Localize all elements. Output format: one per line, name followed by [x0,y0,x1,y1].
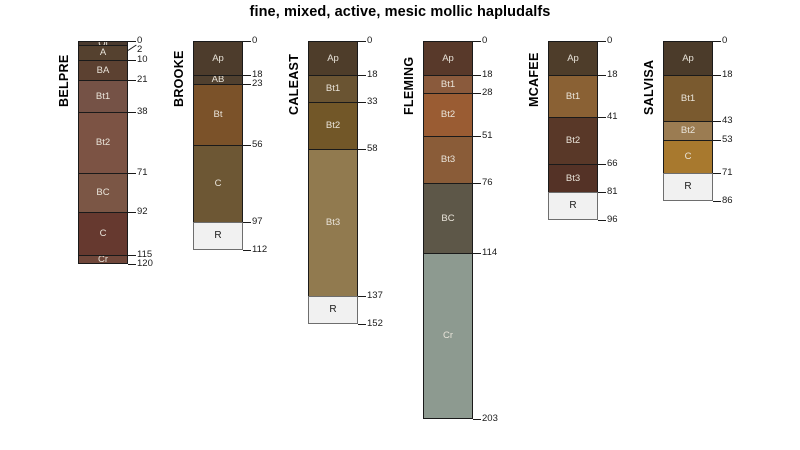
depth-value: 21 [137,75,148,85]
horizon-label: Bt2 [566,136,580,146]
profile-label-fleming: FLEMING [402,57,416,115]
horizon-label: Cr [98,255,108,264]
horizon-label: Bt2 [681,126,695,136]
profile-label-salvisa: SALVISA [642,60,656,115]
depth-tick [473,41,481,42]
depth-tick [473,419,481,420]
horizon-ab[interactable]: AB [193,75,243,84]
depth-value: 120 [137,259,153,269]
depth-tick [473,253,481,254]
horizon-r[interactable]: R [308,296,358,324]
depth-value: 71 [137,168,148,178]
horizon-label: AB [212,75,225,84]
depth-tick [128,80,136,81]
horizon-label: Bt3 [566,174,580,184]
depth-value: 43 [722,116,733,126]
horizon-bc[interactable]: BC [78,173,128,212]
depth-tick [473,75,481,76]
depth-value: 41 [607,112,618,122]
horizon-bt2[interactable]: Bt2 [423,93,473,136]
depth-value: 10 [137,55,148,65]
horizon-bt1[interactable]: Bt1 [308,75,358,103]
depth-value: 0 [367,36,372,46]
horizon-label: R [569,201,576,211]
depth-tick [358,324,366,325]
depth-tick [358,41,366,42]
horizon-bt2[interactable]: Bt2 [548,117,598,164]
horizon-label: C [215,179,222,189]
depth-value: 92 [137,207,148,217]
depth-value: 76 [482,178,493,188]
depth-tick [598,41,606,42]
depth-value: 66 [607,159,618,169]
depth-tick [128,112,136,113]
horizon-bt1[interactable]: Bt1 [548,75,598,118]
horizon-bt2[interactable]: Bt2 [78,112,128,173]
depth-value: 137 [367,291,383,301]
horizon-bt3[interactable]: Bt3 [548,164,598,192]
horizon-bt2[interactable]: Bt2 [308,102,358,149]
depth-tick [243,250,251,251]
horizon-label: Ap [682,54,694,64]
depth-value: 23 [252,79,263,89]
depth-value: 33 [367,97,378,107]
depth-tick [243,41,251,42]
depth-value: 58 [367,144,378,154]
depth-tick [473,93,481,94]
horizon-label: Ap [212,54,224,64]
horizon-label: R [214,231,221,241]
horizon-label: Bt1 [566,92,580,102]
depth-tick [358,75,366,76]
depth-value: 86 [722,196,733,206]
horizon-label: R [329,305,336,315]
depth-value: 81 [607,187,618,197]
horizon-ba[interactable]: BA [78,60,128,80]
depth-value: 18 [607,70,618,80]
profile-label-brooke: BROOKE [172,50,186,107]
horizon-label: Bt3 [326,218,340,228]
horizon-bt3[interactable]: Bt3 [308,149,358,296]
depth-tick [713,140,721,141]
depth-tick [128,212,136,213]
depth-tick [598,164,606,165]
horizon-label: BA [97,66,110,76]
horizon-ap[interactable]: Ap [663,41,713,75]
horizon-label: Bt [214,110,223,120]
depth-tick [598,117,606,118]
depth-tick [713,201,721,202]
depth-tick [243,84,251,85]
soil-profile-plot: fine, mixed, active, mesic mollic haplud… [0,0,800,450]
horizon-label: C [685,152,692,162]
horizon-label: Bt1 [441,80,455,90]
depth-value: 0 [722,36,727,46]
horizon-label: R [684,182,691,192]
horizon-r[interactable]: R [663,173,713,201]
horizon-label: Ap [327,54,339,64]
depth-value: 152 [367,319,383,329]
horizon-label: Ap [567,54,579,64]
horizon-label: Bt3 [441,155,455,165]
horizon-label: BC [441,214,454,224]
horizon-r[interactable]: R [548,192,598,220]
horizon-c[interactable]: C [663,140,713,174]
horizon-bt1[interactable]: Bt1 [78,80,128,112]
horizon-bt[interactable]: Bt [193,84,243,145]
depth-value: 203 [482,414,498,424]
depth-tick [128,255,136,256]
depth-tick [713,75,721,76]
horizon-label: Bt1 [326,84,340,94]
profile-label-mcafee: MCAFEE [527,52,541,107]
horizon-bt3[interactable]: Bt3 [423,136,473,183]
depth-value: 53 [722,135,733,145]
depth-tick [713,41,721,42]
depth-value: 0 [607,36,612,46]
horizon-label: Bt1 [681,94,695,104]
depth-tick [128,45,137,51]
horizon-label: Bt2 [326,121,340,131]
depth-value: 18 [722,70,733,80]
depth-value: 71 [722,168,733,178]
horizon-cr[interactable]: Cr [423,253,473,419]
horizon-label: BC [96,188,109,198]
horizon-label: Bt1 [96,92,110,102]
depth-value: 112 [252,245,267,255]
horizon-label: C [100,229,107,239]
depth-tick [713,173,721,174]
depth-tick [243,145,251,146]
horizon-cr[interactable]: Cr [78,255,128,264]
horizon-ap[interactable]: Ap [423,41,473,75]
horizon-label: Bt2 [96,138,110,148]
horizon-label: Bt2 [441,110,455,120]
depth-value: 51 [482,131,493,141]
horizon-label: Ap [442,54,454,64]
depth-value: 18 [482,70,493,80]
profile-label-caleast: CALEAST [287,54,301,115]
depth-value: 96 [607,215,618,225]
depth-value: 56 [252,140,263,150]
depth-value: 114 [482,248,497,258]
horizon-ap[interactable]: Ap [548,41,598,75]
depth-value: 18 [367,70,378,80]
depth-tick [243,222,251,223]
depth-value: 28 [482,88,493,98]
depth-tick [128,264,136,265]
depth-tick [473,183,481,184]
depth-tick [128,173,136,174]
depth-tick [713,121,721,122]
profile-label-belpre: BELPRE [57,54,71,107]
depth-value: 97 [252,217,263,227]
horizon-label: Cr [443,331,453,341]
horizon-r[interactable]: R [193,222,243,250]
horizon-ap[interactable]: Ap [193,41,243,75]
depth-tick [358,296,366,297]
depth-tick [358,102,366,103]
depth-tick [598,192,606,193]
depth-tick [358,149,366,150]
horizon-c[interactable]: C [193,145,243,221]
horizon-bt2[interactable]: Bt2 [663,121,713,140]
horizon-label: A [100,48,106,58]
depth-tick [128,41,136,42]
depth-value: 0 [482,36,487,46]
horizon-c[interactable]: C [78,212,128,255]
depth-value: 38 [137,107,148,117]
plot-title: fine, mixed, active, mesic mollic haplud… [0,4,800,20]
depth-tick [243,75,251,76]
depth-tick [473,136,481,137]
horizon-bt1[interactable]: Bt1 [663,75,713,122]
depth-value: 0 [252,36,257,46]
horizon-bc[interactable]: BC [423,183,473,254]
depth-tick [128,60,136,61]
depth-tick [598,220,606,221]
depth-tick [598,75,606,76]
horizon-ap[interactable]: Ap [308,41,358,75]
horizon-a[interactable]: A [78,45,128,60]
horizon-bt1[interactable]: Bt1 [423,75,473,94]
